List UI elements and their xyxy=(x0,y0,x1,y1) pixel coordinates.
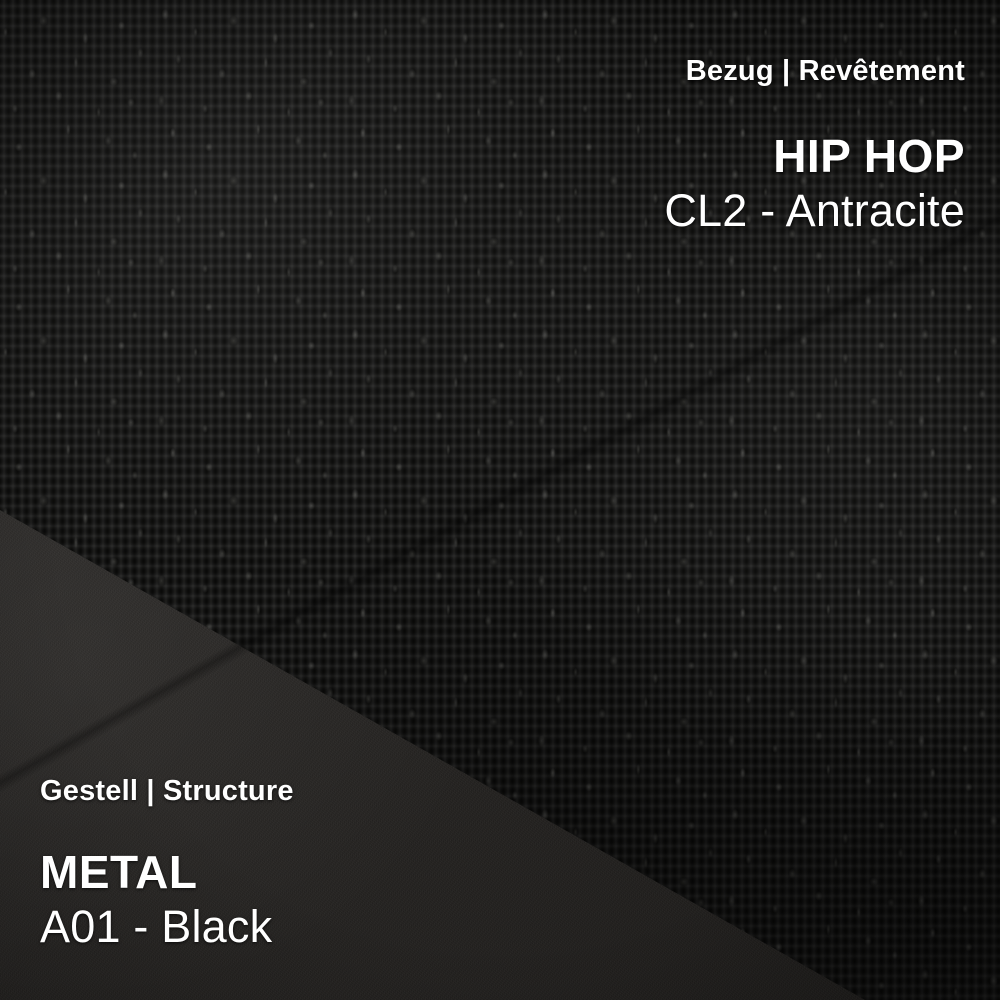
fabric-code-color: CL2 - Antracite xyxy=(664,186,965,236)
metal-category-label: Gestell | Structure xyxy=(40,776,294,808)
fabric-category-label: Bezug | Revêtement xyxy=(664,56,965,88)
fabric-caption: Bezug | Revêtement HIP HOP CL2 - Antraci… xyxy=(664,56,965,236)
metal-code-color: A01 - Black xyxy=(40,902,294,952)
fabric-name: HIP HOP xyxy=(664,132,965,182)
metal-name: METAL xyxy=(40,848,294,898)
material-swatch: Bezug | Revêtement HIP HOP CL2 - Antraci… xyxy=(0,0,1000,1000)
metal-caption: Gestell | Structure METAL A01 - Black xyxy=(40,776,294,952)
